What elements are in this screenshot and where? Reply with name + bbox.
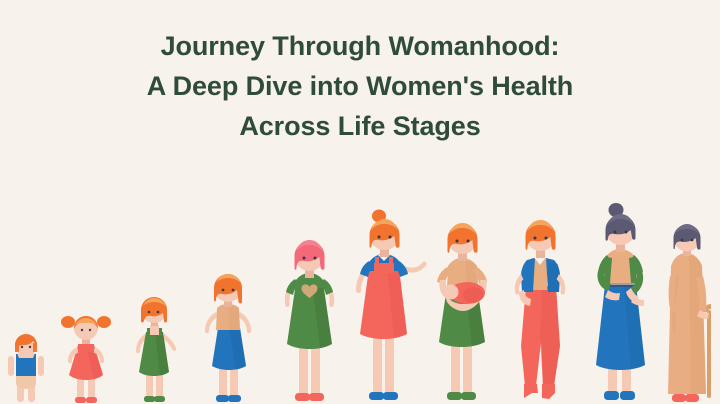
preteen-eye-left (222, 289, 225, 292)
prof-trousers-shade (540, 286, 560, 386)
elder-cane (707, 310, 711, 398)
prof-heels (524, 384, 555, 399)
figure-child (123, 292, 185, 404)
toddler-shoes (75, 397, 97, 403)
infant-eye-left (21, 346, 23, 348)
ya-shoes (369, 392, 398, 400)
mid-eye-right (625, 231, 628, 234)
mother-shoes (447, 392, 476, 400)
ya-eye-right (389, 236, 392, 239)
page-title: Journey Through Womanhood: A Deep Dive i… (0, 26, 720, 146)
prof-jacket-left (521, 258, 535, 292)
ya-strap-right (389, 257, 393, 265)
ya-strap-left (375, 257, 379, 265)
mother-eye-right (467, 240, 470, 243)
slide-canvas: Journey Through Womanhood: A Deep Dive i… (0, 0, 720, 404)
figure-elder (654, 218, 720, 404)
teen-eye-right (314, 257, 317, 260)
toddler-eye-right (89, 329, 91, 331)
figure-toddler (57, 309, 114, 404)
elder-eye-right (691, 239, 694, 242)
infant-bundle-shade (463, 287, 483, 303)
infant-eye-right (29, 346, 31, 348)
toddler-bodice (78, 344, 94, 352)
figure-mother (420, 210, 504, 404)
child-eye-left (148, 311, 151, 314)
mid-eye-left (614, 231, 617, 234)
preteen-top-shade (229, 305, 240, 330)
mother-legs (451, 340, 472, 394)
child-eye-right (157, 311, 160, 314)
prof-eye-left (534, 237, 537, 240)
teen-eye-left (303, 257, 306, 260)
preteen-shoes (216, 395, 241, 402)
child-chest (150, 325, 159, 335)
toddler-eye-left (81, 329, 83, 331)
ya-eye-left (378, 236, 381, 239)
teen-legs (299, 342, 320, 396)
elder-robe-shade (689, 254, 706, 394)
figure-infant (4, 332, 48, 404)
figure-young-adult (342, 206, 430, 404)
child-shoes (144, 396, 165, 402)
infant-hair-side-left (15, 343, 19, 352)
infant-bundle-head (444, 285, 459, 300)
toddler-pigtail-left (61, 316, 75, 328)
toddler-pigtail-right (97, 316, 111, 328)
infant-hair-side-right (33, 343, 37, 352)
title-line-1: Journey Through Womanhood: (0, 26, 720, 66)
figure-preteen (193, 264, 263, 404)
prof-eye-right (545, 237, 548, 240)
figure-midlife (578, 201, 664, 404)
title-line-3: Across Life Stages (0, 106, 720, 146)
life-stages-illustration (0, 154, 720, 404)
mother-eye-left (456, 240, 459, 243)
elder-eye-left (681, 239, 684, 242)
teen-shoes (295, 393, 324, 401)
title-line-2: A Deep Dive into Women's Health (0, 66, 720, 106)
figure-professional (498, 208, 582, 404)
preteen-eye-right (232, 289, 235, 292)
figure-teen (268, 224, 350, 404)
mid-shoes (604, 391, 635, 400)
elder-shoes (672, 394, 699, 402)
ya-legs (373, 334, 394, 394)
